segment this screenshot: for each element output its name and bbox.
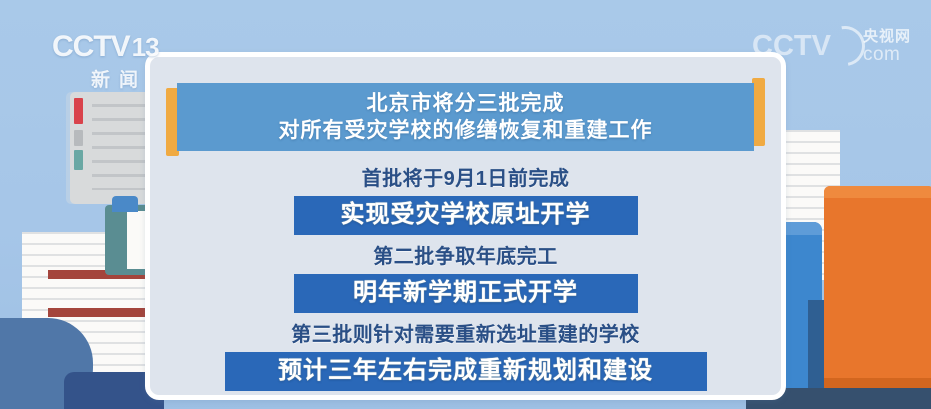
content-block: 第二批争取年底完工 明年新学期正式开学 [164,243,767,313]
block-highlight-bar: 明年新学期正式开学 [294,274,638,313]
block-highlight-text: 实现受灾学校原址开学 [341,201,591,228]
content-blocks: 首批将于9月1日前完成 实现受灾学校原址开学 第二批争取年底完工 明年新学期正式… [150,165,781,391]
block-highlight-bar: 实现受灾学校原址开学 [294,196,638,235]
content-block: 首批将于9月1日前完成 实现受灾学校原址开学 [164,165,767,235]
block-highlight-text: 明年新学期正式开学 [353,279,578,306]
title-line-1: 北京市将分三批完成 [367,90,565,117]
block-highlight-bar: 预计三年左右完成重新规划和建设 [225,352,707,391]
content-block: 第三批则针对需要重新选址重建的学校 预计三年左右完成重新规划和建设 [164,321,767,391]
block-subtitle: 首批将于9月1日前完成 [164,165,767,193]
block-highlight-text: 预计三年左右完成重新规划和建设 [278,357,653,384]
block-subtitle: 第二批争取年底完工 [164,243,767,271]
title-banner-wrap: 北京市将分三批完成 对所有受灾学校的修缮恢复和重建工作 [166,83,765,151]
block-subtitle: 第三批则针对需要重新选址重建的学校 [164,321,767,349]
title-line-2: 对所有受灾学校的修缮恢复和重建工作 [279,117,653,144]
info-panel: 北京市将分三批完成 对所有受灾学校的修缮恢复和重建工作 首批将于9月1日前完成 … [145,52,786,400]
broadcast-screen: CCTV13 新闻 CCTV 央视网 com 北京市将分三批完成 对所有受灾学校… [0,0,931,409]
title-banner: 北京市将分三批完成 对所有受灾学校的修缮恢复和重建工作 [177,83,754,151]
